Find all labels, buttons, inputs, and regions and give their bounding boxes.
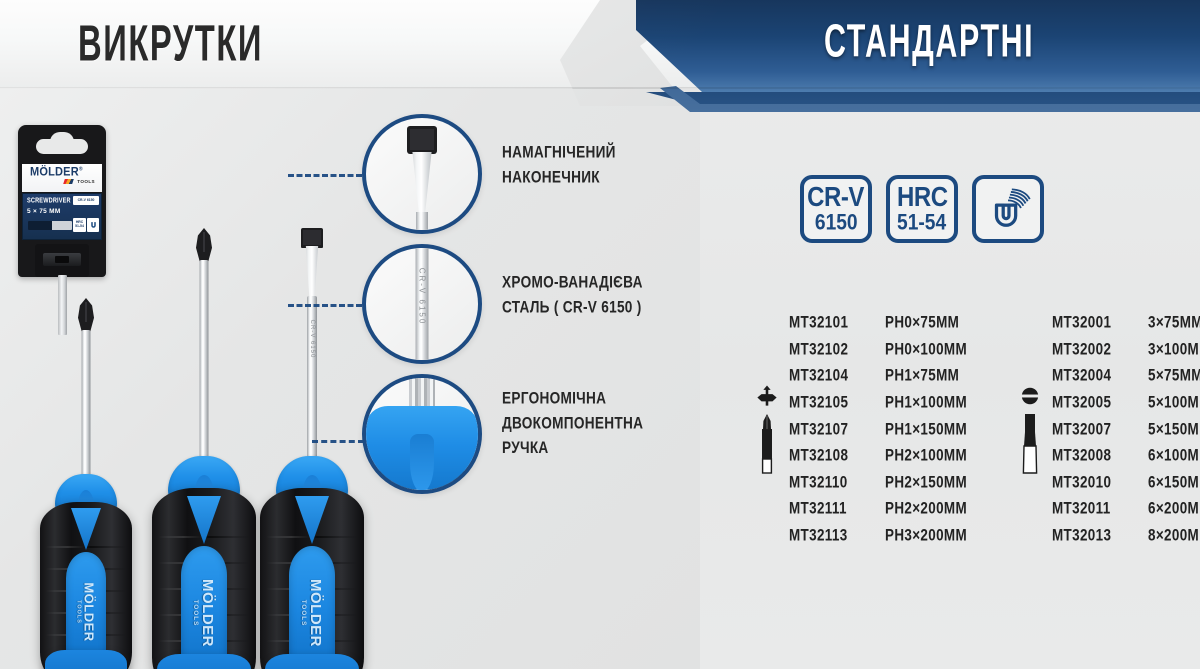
code-size: PH2×150MM [885,474,967,493]
handle-brand-logo: MÖLDER TOOLS [76,582,97,641]
handle-end-cap [45,650,127,669]
code-sku: MT32101 [789,314,877,333]
magnet-icon [89,221,98,230]
feature-label-line: НАКОНЕЧНИК [502,166,616,190]
code-size: PH0×100MM [885,341,967,360]
code-sku: MT32007 [1052,420,1140,439]
phillips-cross-icon [756,385,778,407]
package-card: MÖLDER® TOOLS SCREWDRIVER 5 × 75 MM CR-V… [18,125,106,277]
table-row: MT32113PH3×200MM [789,523,974,550]
column-spacer [974,310,1008,549]
code-size: 3×100MM [1148,341,1200,360]
handle-end-cap [157,654,251,669]
product-code-table: MT32101PH0×75MM MT32102PH0×100MM MT32104… [745,310,1200,549]
catalog-page: ВИКРУТКИ СТАНДАРТНІ MÖLDER® TOOLS SCREWD… [0,0,1200,669]
handle-end-cap [265,654,359,669]
specification-panel: CR-V 6150 HRC 51-54 [700,88,1200,669]
feature-label-line: НАМАГНІЧЕНИЙ [502,142,616,166]
code-sku: MT32111 [789,500,877,519]
magnet-badge-icon [985,186,1031,232]
phillips-code-column: MT32101PH0×75MM MT32102PH0×100MM MT32104… [745,310,974,549]
package-hrc-badge: HRC 51-54 [73,218,86,232]
code-sku: MT32013 [1052,527,1140,546]
blade-engraving-zoom: CR-V 6150 [418,268,427,326]
code-sku: MT32105 [789,394,877,413]
code-sku: MT32011 [1052,500,1140,519]
code-size: PH2×200MM [885,500,967,519]
code-size: 8×200MM [1148,527,1200,546]
table-row: MT320075×150MM [1052,416,1200,443]
table-row: MT320086×100MM [1052,443,1200,470]
code-sku: MT32008 [1052,447,1140,466]
code-sku: MT32002 [1052,341,1140,360]
code-size: 6×150MM [1148,474,1200,493]
feature-label-line: ЕРГОНОМІЧНА [502,388,643,412]
table-row: MT32105PH1×100MM [789,390,974,417]
feature-label-line: СТАЛЬ ( CR-V 6150 ) [502,296,643,320]
package-spec-strip: SCREWDRIVER 5 × 75 MM CR-V 6150 HRC 51-5… [22,193,102,240]
code-size: 5×75MM [1148,367,1200,386]
feature-circle-ergonomic-handle [362,374,482,494]
code-sku: MT32001 [1052,314,1140,333]
brand-flag-icon [63,179,74,184]
code-size: 5×100MM [1148,394,1200,413]
code-sku: MT32107 [789,420,877,439]
handle-brand-logo: MÖLDER TOOLS [192,579,216,647]
badge-hrc-title: HRC [897,184,948,212]
feature-circle-magnetized-tip [362,114,482,234]
slotted-code-column: MT320013×75MM MT320023×100MM MT320045×75… [1008,310,1200,549]
feature-label-chrome-vanadium-steel: ХРОМО-ВАНАДІЄВА СТАЛЬ ( CR-V 6150 ) [502,272,643,321]
code-sku: MT32010 [1052,474,1140,493]
table-row: MT320106×150MM [1052,470,1200,497]
handle-blue-inlay: MÖLDER TOOLS [181,546,227,669]
code-sku: MT32113 [789,527,877,546]
connector-line-magnetized-tip [288,174,362,177]
header-divider [0,87,1200,89]
handle-brand-logo: MÖLDER TOOLS [300,579,324,647]
package-hang-hole [36,139,88,154]
slotted-code-list: MT320013×75MM MT320023×100MM MT320045×75… [1052,310,1200,549]
phillips-tip-icon [78,298,94,332]
screwdriver-flathead: CR-V 6150 MÖLDER TOOLS [256,228,368,669]
table-row: MT32101PH0×75MM [789,310,974,337]
package-product-label: SCREWDRIVER [27,196,71,205]
code-size: 6×100MM [1148,447,1200,466]
table-row: MT320055×100MM [1052,390,1200,417]
handle: MÖLDER TOOLS [36,474,136,669]
flathead-tip-icon [301,228,323,248]
code-size: 3×75MM [1148,314,1200,333]
code-size: PH1×75MM [885,367,959,386]
blade-shaft: CR-V 6150 [307,296,317,462]
table-row: MT32102PH0×100MM [789,337,974,364]
product-package-hangtag: MÖLDER® TOOLS SCREWDRIVER 5 × 75 MM CR-V… [18,125,106,285]
badge-hrc-value: 51-54 [897,212,946,234]
page-title: ВИКРУТКИ [78,14,263,73]
code-sku: MT32004 [1052,367,1140,386]
connector-line-steel [288,304,362,307]
handle: MÖLDER TOOLS [256,456,368,669]
table-row: MT32108PH2×100MM [789,443,974,470]
feature-circle-chrome-vanadium-steel: CR-V 6150 [362,244,482,364]
code-sku: MT32104 [789,367,877,386]
code-size: PH0×75MM [885,314,959,333]
code-size: PH3×200MM [885,527,967,546]
badge-hrc: HRC 51-54 [886,175,958,243]
screwdriver-phillips-small: MÖLDER TOOLS [36,298,136,669]
code-sku: MT32102 [789,341,877,360]
table-row: MT32110PH2×150MM [789,470,974,497]
flathead-tip-icon [366,118,478,230]
page-subtitle: СТАНДАРТНІ [824,16,1034,68]
feature-label-magnetized-tip: НАМАГНІЧЕНИЙ НАКОНЕЧНИК [502,142,616,191]
table-row: MT320045×75MM [1052,363,1200,390]
table-row: MT320116×200MM [1052,496,1200,523]
feature-label-ergonomic-handle: ЕРГОНОМІЧНА ДВОКОМПОНЕНТНА РУЧКА [502,388,643,461]
blade-engraving: CR-V 6150 [309,320,315,359]
handle: MÖLDER TOOLS [148,456,260,669]
package-size-label: 5 × 75 MM [27,208,61,215]
package-product-thumbnail [28,221,72,230]
blade-shaft [82,330,91,478]
connector-line-handle [312,440,364,443]
table-row: MT32107PH1×150MM [789,416,974,443]
package-magnet-badge [87,218,99,232]
slotted-circle-icon [1019,385,1041,407]
phillips-code-list: MT32101PH0×75MM MT32102PH0×100MM MT32104… [789,310,974,549]
feature-label-line: ДВОКОМПОНЕНТНА [502,412,643,436]
badge-crv-value: 6150 [815,212,858,234]
blade-taper [301,246,323,298]
code-size: 6×200MM [1148,500,1200,519]
package-brand-name: MÖLDER® [30,166,96,179]
page-header: ВИКРУТКИ СТАНДАРТНІ [0,0,1200,88]
blade-shaft [200,260,209,460]
phillips-bit-group-icon [745,385,789,475]
spec-badges: CR-V 6150 HRC 51-54 [800,175,1044,243]
table-row: MT32111PH2×200MM [789,496,974,523]
table-row: MT320013×75MM [1052,310,1200,337]
package-hrc-value: 51-54 [75,225,84,229]
badge-crv: CR-V 6150 [800,175,872,243]
table-row: MT320023×100MM [1052,337,1200,364]
feature-label-line: РУЧКА [502,437,643,461]
code-sku: MT32108 [789,447,877,466]
feature-label-line: ХРОМО-ВАНАДІЄВА [502,272,643,296]
handle-blue-inlay: MÖLDER TOOLS [289,546,335,669]
code-size: PH1×100MM [885,394,967,413]
phillips-bit-icon [757,413,777,475]
table-row: MT32104PH1×75MM [789,363,974,390]
code-sku: MT32110 [789,474,877,493]
handle-icon [366,378,478,490]
flathead-bit-group-icon [1008,385,1052,475]
badge-crv-title: CR-V [808,184,865,212]
code-size: 5×150MM [1148,420,1200,439]
package-brand-strip: MÖLDER® TOOLS [22,164,102,192]
package-tools-label: TOOLS [77,179,95,184]
package-tool-clip [35,244,89,277]
flathead-bit-icon [1020,413,1040,475]
phillips-tip-icon [196,228,212,262]
table-row: MT320138×200MM [1052,523,1200,550]
blade-shaft-icon: CR-V 6150 [366,248,478,360]
product-photo-panel: MÖLDER® TOOLS SCREWDRIVER 5 × 75 MM CR-V… [0,88,700,669]
badge-magnet [972,175,1044,243]
code-size: PH2×100MM [885,447,967,466]
package-crv-badge: CR-V 6150 [73,196,99,205]
code-size: PH1×150MM [885,420,967,439]
code-sku: MT32005 [1052,394,1140,413]
screwdriver-phillips-large: MÖLDER TOOLS [148,228,260,669]
